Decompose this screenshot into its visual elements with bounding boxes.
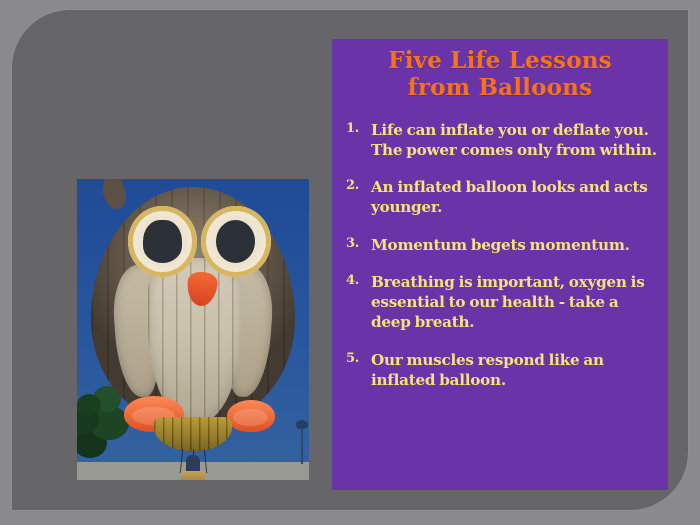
slide-inner-panel: Five Life Lessons from Balloons Life can…: [12, 10, 688, 510]
balloon-photo: [77, 179, 309, 480]
slide-background: Five Life Lessons from Balloons Life can…: [0, 0, 700, 525]
owl-eye-right: [201, 206, 270, 277]
lesson-text: Momentum begets momentum.: [371, 236, 630, 254]
owl-foot-right: [227, 400, 275, 432]
list-item: Our muscles respond like an inflated bal…: [339, 350, 660, 390]
title-line-2: from Balloons: [408, 74, 592, 101]
balloon-basket: [181, 471, 205, 480]
lesson-text: Our muscles respond like an inflated bal…: [371, 351, 604, 389]
list-item: Momentum begets momentum.: [339, 235, 660, 255]
list-item: Life can inflate you or deflate you. The…: [339, 120, 660, 160]
list-item: An inflated balloon looks and acts young…: [339, 177, 660, 217]
list-item: Breathing is important, oxygen is essent…: [339, 272, 660, 333]
pupil-right: [216, 220, 255, 262]
pupil-left: [143, 220, 182, 262]
utility-pole: [301, 426, 303, 464]
content-panel: Five Life Lessons from Balloons Life can…: [332, 39, 668, 490]
owl-balloon-envelope: [91, 187, 295, 423]
lesson-text: An inflated balloon looks and acts young…: [371, 178, 648, 216]
lesson-text: Life can inflate you or deflate you. The…: [371, 121, 657, 159]
owl-eye-left: [128, 206, 197, 277]
lesson-text: Breathing is important, oxygen is essent…: [371, 273, 645, 331]
lesson-list: Life can inflate you or deflate you. The…: [332, 120, 668, 390]
title-line-1: Five Life Lessons: [388, 47, 612, 74]
page-title: Five Life Lessons from Balloons: [332, 39, 668, 102]
